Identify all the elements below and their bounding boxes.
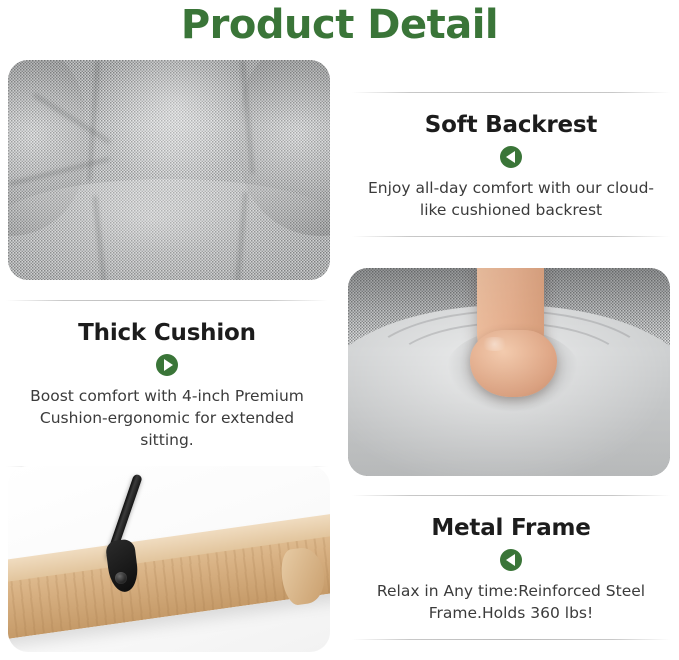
- feature-heading: Thick Cushion: [6, 320, 328, 346]
- arrow-left-circle-icon: [500, 146, 522, 168]
- divider-top: [6, 300, 328, 301]
- feature-soft-backrest: Soft Backrest Enjoy all-day comfort with…: [352, 92, 670, 237]
- feature-heading: Soft Backrest: [352, 112, 670, 138]
- arrow-left-circle-icon: [500, 549, 522, 571]
- page-title: Product Detail: [0, 2, 679, 48]
- product-detail-infographic: Product Detail Soft Backrest Enjoy all-d…: [0, 0, 679, 660]
- feature-body: Boost comfort with 4-inch Premium Cushio…: [6, 385, 328, 451]
- divider-bottom: [352, 236, 670, 237]
- metal-frame-image: [8, 466, 330, 652]
- feature-heading: Metal Frame: [352, 515, 670, 541]
- triangle-left-glyph: [506, 554, 515, 566]
- divider-top: [352, 495, 670, 496]
- divider-top: [352, 92, 670, 93]
- feature-thick-cushion: Thick Cushion Boost comfort with 4-inch …: [6, 300, 328, 467]
- bolt-screw: [115, 572, 127, 584]
- image-shading-overlay: [8, 60, 330, 280]
- image-shading-overlay: [348, 268, 670, 476]
- feature-body: Relax in Any time:Reinforced Steel Frame…: [352, 580, 670, 624]
- arrow-container: [352, 549, 670, 571]
- backrest-image: [8, 60, 330, 280]
- triangle-right-glyph: [164, 359, 173, 371]
- arrow-right-circle-icon: [156, 354, 178, 376]
- feature-body: Enjoy all-day comfort with our cloud-lik…: [352, 177, 670, 221]
- divider-bottom: [352, 639, 670, 640]
- thick-cushion-image: [348, 268, 670, 476]
- arrow-container: [352, 146, 670, 168]
- arrow-container: [6, 354, 328, 376]
- feature-metal-frame: Metal Frame Relax in Any time:Reinforced…: [352, 495, 670, 640]
- triangle-left-glyph: [506, 151, 515, 163]
